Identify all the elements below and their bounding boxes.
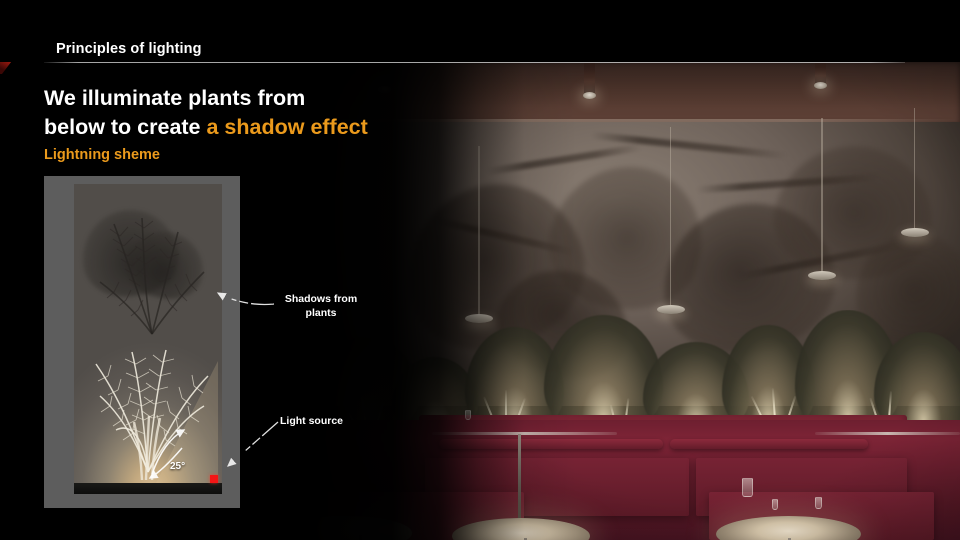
water-carafe (742, 478, 753, 497)
headline-line-2-plain: below to create (44, 115, 207, 139)
table-leg (518, 434, 521, 520)
drinking-glass (815, 497, 822, 509)
drinking-glass (465, 410, 471, 420)
beam-angle-label: 25° (170, 461, 185, 472)
slide-root: Principles of lighting We illuminate pla… (0, 0, 960, 540)
table-leg (359, 535, 362, 540)
headline-line-2-accent: a shadow effect (207, 115, 368, 139)
pendant-lamp (914, 108, 916, 233)
pendant-lamp (821, 118, 823, 276)
banquette-cushion (439, 439, 663, 449)
diagram-scene: 25° (74, 184, 222, 494)
ceiling-spotlight (815, 60, 826, 86)
callout-light-source: Light source (280, 415, 366, 429)
header-divider (44, 62, 905, 63)
subheading: Lightning sheme (44, 147, 160, 163)
beam-angle-arrows (74, 184, 222, 494)
callout-shadows-from-plants: Shadows from plants (277, 293, 365, 321)
ceiling-surface (300, 60, 960, 122)
drinking-glass (772, 499, 778, 510)
restaurant-interior-photo (300, 60, 960, 540)
headline-line-1: We illuminate plants from (44, 86, 305, 110)
pendant-lamp (670, 127, 672, 309)
table-rail (432, 432, 617, 435)
headline: We illuminate plants from below to creat… (44, 84, 384, 141)
light-source-callout-arrow (206, 420, 296, 480)
table-rail (815, 432, 960, 435)
callout-line-1: Shadows from (285, 293, 357, 305)
photo-content (300, 60, 960, 540)
pendant-lamp (478, 146, 480, 319)
page-title: Principles of lighting (56, 41, 202, 57)
ceiling-spotlight (584, 60, 595, 96)
callout-line-2: plants (306, 307, 337, 319)
banquette-cushion (670, 439, 868, 449)
